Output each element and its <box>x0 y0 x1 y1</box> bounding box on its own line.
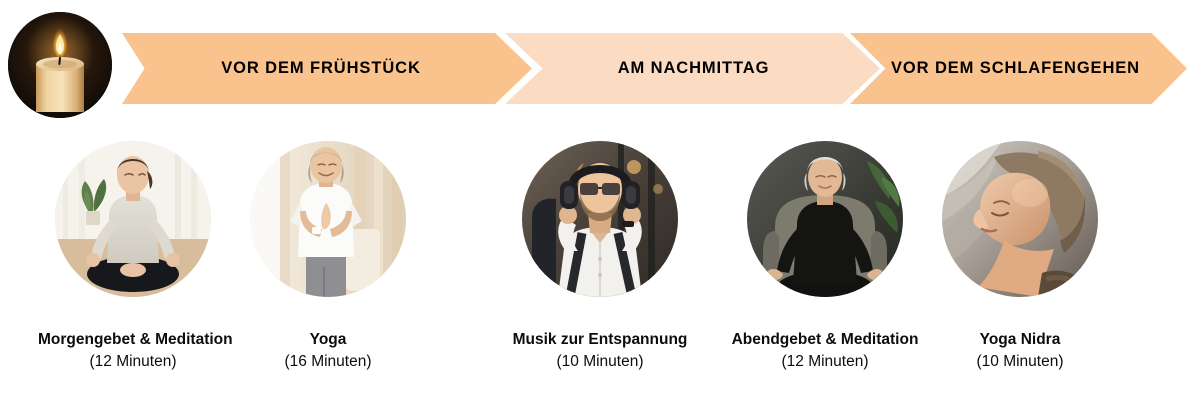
phase-banner-label: VOR DEM FRÜHSTÜCK <box>221 59 421 78</box>
activity-duration: (12 Minuten) <box>38 353 228 372</box>
phase-banner-label: AM NACHMITTAG <box>618 59 770 78</box>
woman-meditating-lotus-photo <box>55 141 211 297</box>
activity-card[interactable]: Musik zur Entspannung (10 Minuten) <box>505 141 695 372</box>
woman-lying-resting-photo <box>942 141 1098 297</box>
activity-card[interactable]: Morgengebet & Meditation (12 Minuten) <box>38 141 228 372</box>
man-prayer-pose-photo <box>250 141 406 297</box>
activity-title: Morgengebet & Meditation <box>38 331 228 350</box>
activity-duration: (10 Minuten) <box>925 353 1115 372</box>
activity-duration: (16 Minuten) <box>233 353 423 372</box>
phase-banner-vor-dem-fruehstueck[interactable]: VOR DEM FRÜHSTÜCK <box>122 33 532 104</box>
candle-badge <box>8 12 112 118</box>
activity-card[interactable]: Abendgebet & Meditation (12 Minuten) <box>730 141 920 372</box>
activity-title: Yoga <box>233 331 423 350</box>
phase-banner-label: VOR DEM SCHLAFENGEHEN <box>891 59 1140 78</box>
candle-icon <box>8 12 112 118</box>
senior-woman-meditating-photo <box>747 141 903 297</box>
phase-banner-am-nachmittag[interactable]: AM NACHMITTAG <box>505 33 880 104</box>
phase-banner-vor-dem-schlafengehen[interactable]: VOR DEM SCHLAFENGEHEN <box>850 33 1187 104</box>
activity-duration: (10 Minuten) <box>505 353 695 372</box>
activity-title: Musik zur Entspannung <box>505 331 695 350</box>
activity-title: Yoga Nidra <box>925 331 1115 350</box>
activity-card[interactable]: Yoga Nidra (10 Minuten) <box>925 141 1115 372</box>
activity-duration: (12 Minuten) <box>730 353 920 372</box>
man-headphones-listening-photo <box>522 141 678 297</box>
activity-title: Abendgebet & Meditation <box>730 331 920 350</box>
phase-banner-strip: VOR DEM FRÜHSTÜCK AM NACHMITTAG VOR DEM … <box>122 33 1187 104</box>
activity-card[interactable]: Yoga (16 Minuten) <box>233 141 423 372</box>
